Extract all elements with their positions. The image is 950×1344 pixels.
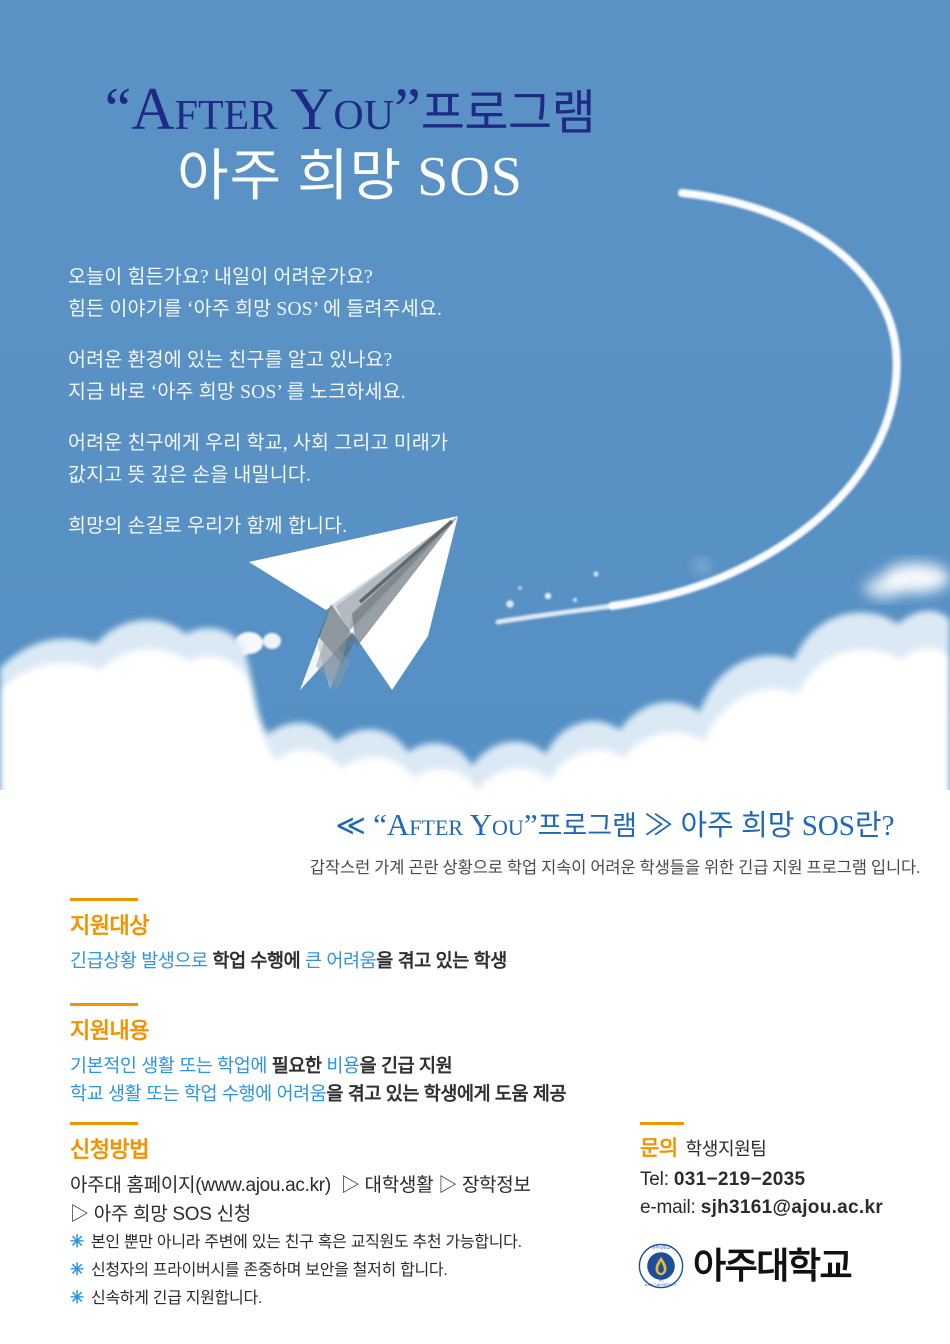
contact-email-line: e-mail: sjh3161@ajou.ac.kr bbox=[640, 1194, 883, 1223]
program-definition-subtitle: 갑작스런 가계 곤란 상황으로 학업 지속이 어려운 학생들을 위한 긴급 지원… bbox=[290, 854, 940, 878]
seal-bottom-text: AJOU UNIVERSITY bbox=[645, 1283, 678, 1287]
university-name: 아주대학교 bbox=[693, 1248, 851, 1284]
bracket-open: ≪ bbox=[336, 810, 366, 842]
section-heading: 지원대상 bbox=[70, 908, 507, 940]
intro-line: 어려운 친구에게 우리 학교, 사회 그리고 미래가 bbox=[68, 428, 538, 460]
asterisk-icon: ✳ bbox=[70, 1256, 84, 1284]
program-definition-block: ≪ “After You”프로그램 ≫ 아주 희망 SOS란? 갑작스런 가계 … bbox=[290, 802, 940, 878]
asterisk-icon: ✳ bbox=[70, 1228, 84, 1256]
apply-menu-sos-request: 아주 희망 SOS 신청 bbox=[94, 1204, 251, 1225]
section-heading: 신청방법 bbox=[70, 1132, 531, 1164]
note-text: 본인 뿐만 아니라 주변에 있는 친구 혹은 교직원도 추천 가능합니다. bbox=[91, 1230, 522, 1256]
intro-line: 힘든 이야기를 ‘아주 희망 SOS’ 에 들려주세요. bbox=[68, 294, 538, 326]
apply-menu-scholarship: 장학정보 bbox=[462, 1175, 531, 1196]
intro-line: 지금 바로 ‘아주 희망 SOS’ 를 노크하세요. bbox=[68, 377, 538, 409]
contact-rule bbox=[640, 1122, 684, 1125]
intro-line: 값지고 뜻 깊은 손을 내밀니다. bbox=[68, 460, 538, 492]
title-korean: 프로그램 bbox=[421, 87, 596, 140]
poster-title-block: “After You”프로그램 아주 희망 SOS bbox=[0, 78, 700, 209]
text-highlight: 기본적인 생활 또는 학업에 bbox=[70, 1055, 272, 1076]
text-dark: 을 긴급 지원 bbox=[360, 1055, 453, 1076]
intro-line: 희망의 손길로 우리가 함께 합니다. bbox=[68, 511, 538, 543]
intro-paragraph: 오늘이 힘든가요? 내일이 어려운가요? 힘든 이야기를 ‘아주 희망 SOS’… bbox=[68, 262, 538, 325]
note-text: 신속하게 긴급 지원합니다. bbox=[91, 1286, 262, 1312]
section-rule bbox=[70, 1003, 138, 1006]
contact-email-label: e-mail: bbox=[640, 1197, 701, 1218]
title-line-2: 아주 희망 SOS bbox=[0, 147, 700, 209]
program-title-english: “After You” bbox=[373, 807, 537, 842]
bracket-close: ≫ bbox=[644, 810, 673, 842]
note-item: ✳ 본인 뿐만 아니라 주변에 있는 친구 혹은 교직원도 추천 가능합니다. bbox=[70, 1228, 522, 1256]
contact-phone-label: Tel: bbox=[640, 1169, 674, 1190]
intro-line: 어려운 환경에 있는 친구를 알고 있나요? bbox=[68, 345, 538, 377]
apply-path-line-1: 아주대 홈페이지(www.ajou.ac.kr) ▷ 대학생활 ▷ 장학정보 bbox=[70, 1171, 531, 1200]
section-heading: 지원내용 bbox=[70, 1013, 566, 1045]
intro-paragraph: 어려운 친구에게 우리 학교, 사회 그리고 미래가 값지고 뜻 깊은 손을 내… bbox=[68, 428, 538, 491]
section-rule bbox=[70, 1122, 138, 1125]
arrow-right-icon: ▷ bbox=[438, 1175, 457, 1196]
contact-heading-row: 문의 학생지원팀 bbox=[640, 1132, 883, 1162]
note-item: ✳ 신청자의 프라이버시를 존중하며 보안을 철저히 합니다. bbox=[70, 1256, 522, 1284]
university-logo: 아주대학교 AJOU UNIVERSITY 1973 아주대학교 bbox=[638, 1243, 851, 1289]
program-title-korean: 프로그램 bbox=[538, 811, 637, 841]
section-support-target: 지원대상 긴급상황 발생으로 학업 수행에 큰 어려움을 겪고 있는 학생 bbox=[70, 898, 507, 975]
title-english: “After You” bbox=[105, 76, 421, 142]
text-dark: 을 겪고 있는 학생 bbox=[376, 950, 507, 971]
apply-menu-campus-life: 대학생활 bbox=[365, 1175, 434, 1196]
asterisk-icon: ✳ bbox=[70, 1284, 84, 1312]
notes-list: ✳ 본인 뿐만 아니라 주변에 있는 친구 혹은 교직원도 추천 가능합니다. … bbox=[70, 1228, 522, 1312]
text-dark: 을 겪고 있는 학생에게 도움 제공 bbox=[326, 1083, 566, 1104]
section-how-to-apply: 신청방법 아주대 홈페이지(www.ajou.ac.kr) ▷ 대학생활 ▷ 장… bbox=[70, 1122, 531, 1229]
title-line-1: “After You”프로그램 bbox=[0, 78, 700, 141]
apply-homepage-url[interactable]: 아주대 홈페이지(www.ajou.ac.kr) bbox=[70, 1175, 331, 1196]
seal-year-text: 1973 bbox=[658, 1281, 664, 1283]
text-highlight: 긴급상황 발생으로 bbox=[70, 950, 212, 971]
apply-path-line-2: ▷ 아주 희망 SOS 신청 bbox=[70, 1200, 531, 1229]
arrow-right-icon: ▷ bbox=[70, 1204, 89, 1225]
contact-team-name: 학생지원팀 bbox=[686, 1135, 767, 1161]
note-text: 신청자의 프라이버시를 존중하며 보안을 철저히 합니다. bbox=[91, 1258, 448, 1284]
contact-email-value[interactable]: sjh3161@ajou.ac.kr bbox=[701, 1197, 883, 1218]
text-highlight: 비용 bbox=[326, 1055, 359, 1076]
intro-paragraph: 희망의 손길로 우리가 함께 합니다. bbox=[68, 511, 538, 543]
intro-copy: 오늘이 힘든가요? 내일이 어려운가요? 힘든 이야기를 ‘아주 희망 SOS’… bbox=[68, 262, 538, 543]
intro-line: 오늘이 힘든가요? 내일이 어려운가요? bbox=[68, 262, 538, 294]
text-highlight: 학교 생활 또는 학업 수행에 어려움 bbox=[70, 1083, 326, 1104]
text-dark: 필요한 bbox=[272, 1055, 327, 1076]
section-body-line: 학교 생활 또는 학업 수행에 어려움을 겪고 있는 학생에게 도움 제공 bbox=[70, 1080, 566, 1109]
arrow-right-icon: ▷ bbox=[341, 1175, 360, 1196]
poster-root: “After You”프로그램 아주 희망 SOS 오늘이 힘든가요? 내일이 … bbox=[0, 0, 950, 1344]
contact-block: 문의 학생지원팀 Tel: 031−219−2035 e-mail: sjh31… bbox=[640, 1122, 883, 1223]
section-body-line: 기본적인 생활 또는 학업에 필요한 비용을 긴급 지원 bbox=[70, 1052, 566, 1081]
ajou-seal-icon: 아주대학교 AJOU UNIVERSITY 1973 bbox=[638, 1243, 684, 1289]
text-dark: 학업 수행에 bbox=[212, 950, 305, 971]
text-highlight: 큰 어려움 bbox=[305, 950, 376, 971]
program-definition-title: ≪ “After You”프로그램 ≫ 아주 희망 SOS란? bbox=[290, 802, 940, 844]
contact-phone-value[interactable]: 031−219−2035 bbox=[674, 1169, 805, 1190]
section-body-line: 긴급상황 발생으로 학업 수행에 큰 어려움을 겪고 있는 학생 bbox=[70, 947, 507, 976]
note-item: ✳ 신속하게 긴급 지원합니다. bbox=[70, 1284, 522, 1312]
section-support-content: 지원내용 기본적인 생활 또는 학업에 필요한 비용을 긴급 지원 학교 생활 … bbox=[70, 1003, 566, 1109]
section-rule bbox=[70, 898, 138, 901]
contact-heading: 문의 bbox=[640, 1132, 678, 1162]
seal-top-text: 아주대학교 bbox=[652, 1244, 671, 1250]
intro-paragraph: 어려운 환경에 있는 친구를 알고 있나요? 지금 바로 ‘아주 희망 SOS’… bbox=[68, 345, 538, 408]
contact-phone-line: Tel: 031−219−2035 bbox=[640, 1166, 883, 1195]
program-title-tail: 아주 희망 SOS란? bbox=[680, 810, 894, 842]
